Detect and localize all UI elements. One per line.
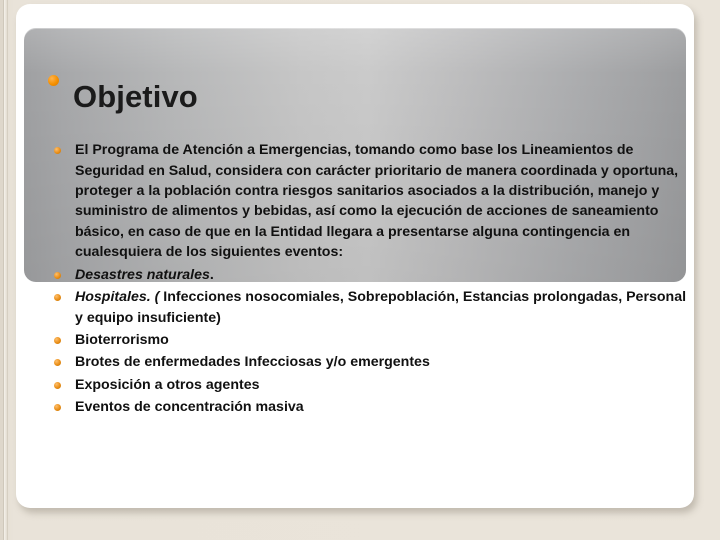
bullet-text-italic: Hospitales. (	[75, 289, 159, 305]
page-title: Objetivo	[73, 81, 198, 114]
slide-title-row: Objetivo	[48, 60, 688, 134]
bullet-text: Eventos de concentración masiva	[75, 399, 304, 415]
list-item-desastres-naturales: Desastres naturales.	[48, 265, 688, 285]
left-edge-rule	[3, 0, 4, 540]
left-edge-rule-secondary	[7, 0, 8, 540]
title-bullet-icon	[48, 75, 59, 86]
bullet-text: Bioterrorismo	[75, 332, 169, 348]
list-item-brotes-enfermedades: Brotes de enfermedades Infecciosas y/o e…	[48, 352, 688, 372]
bullet-text: Brotes de enfermedades Infecciosas y/o e…	[75, 354, 430, 370]
bullet-text-upright: .	[210, 267, 214, 283]
list-item-eventos-concentracion-masiva: Eventos de concentración masiva	[48, 397, 688, 417]
slide-content: Objetivo El Programa de Atención a Emerg…	[48, 60, 688, 420]
bullet-text: Exposición a otros agentes	[75, 377, 260, 393]
list-item-objetivo-parrafo: El Programa de Atención a Emergencias, t…	[48, 140, 688, 263]
bullet-text-upright: Infecciones nosocomiales, Sobrepoblación…	[75, 289, 686, 325]
list-item-hospitales: Hospitales. ( Infecciones nosocomiales, …	[48, 287, 688, 328]
slide-viewport: Objetivo El Programa de Atención a Emerg…	[0, 0, 720, 540]
bullet-text-italic: Desastres naturales	[75, 267, 210, 283]
bullet-text: El Programa de Atención a Emergencias, t…	[75, 142, 678, 260]
list-item-exposicion-otros-agentes: Exposición a otros agentes	[48, 375, 688, 395]
bullet-list: El Programa de Atención a Emergencias, t…	[48, 140, 688, 418]
list-item-bioterrorismo: Bioterrorismo	[48, 330, 688, 350]
slide-card: Objetivo El Programa de Atención a Emerg…	[16, 4, 694, 508]
